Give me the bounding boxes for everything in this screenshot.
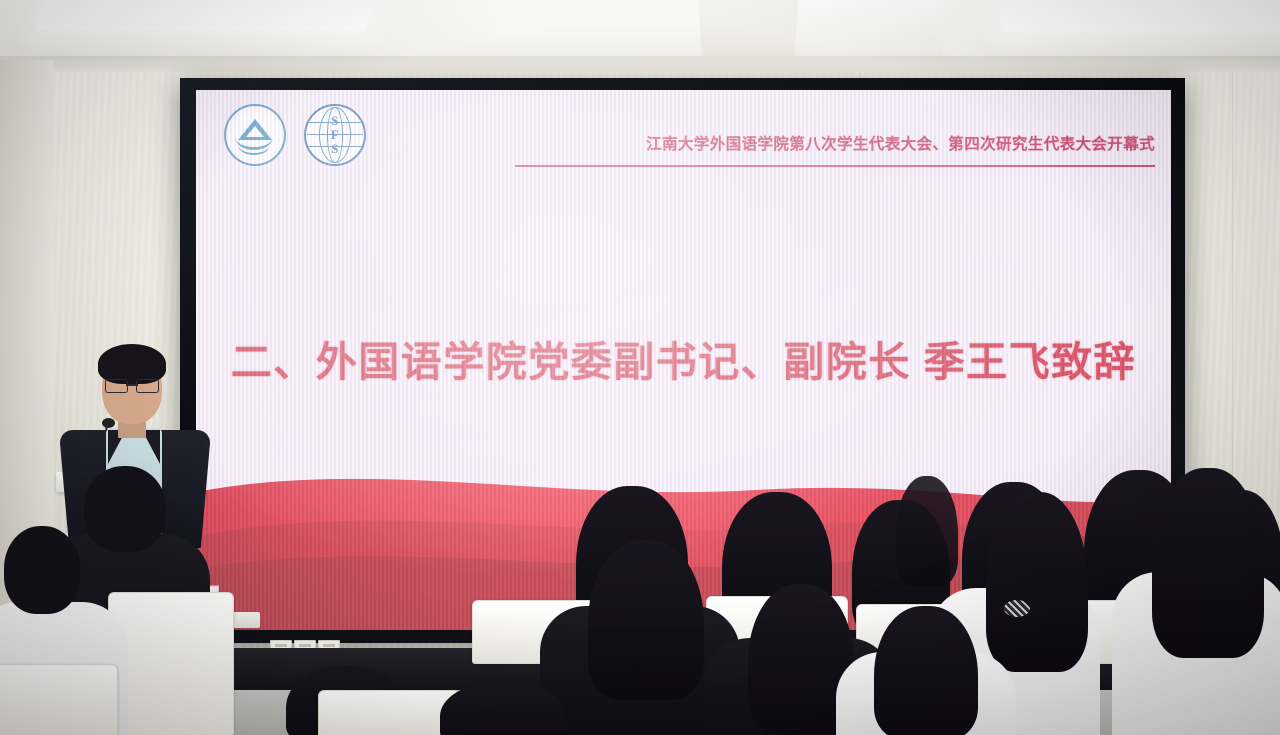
chair[interactable] xyxy=(0,664,118,735)
logo-acronym: S F S xyxy=(306,106,364,164)
school-of-foreign-studies-logo: S F S xyxy=(304,104,366,166)
logo-triangle-inner xyxy=(246,126,264,137)
logo-letter-f: F xyxy=(331,128,339,142)
slide-header: 江南大学外国语学院第八次学生代表大会、第四次研究生代表大会开幕式 xyxy=(515,132,1155,167)
ceiling-light-panel-left xyxy=(35,0,375,30)
hair-tie xyxy=(1004,600,1030,617)
jiangnan-university-logo xyxy=(224,104,286,166)
slide-title: 二、外国语学院党委副书记、副院长 季王飞致辞 xyxy=(196,328,1171,388)
ceiling-cornice xyxy=(0,56,1280,72)
slide-logo-row: S F S xyxy=(224,104,366,166)
chair[interactable] xyxy=(318,690,460,735)
glasses-icon xyxy=(105,379,159,391)
slide-header-text: 江南大学外国语学院第八次学生代表大会、第四次研究生代表大会开幕式 xyxy=(515,132,1155,154)
speaker-hair xyxy=(98,344,166,384)
photo-scene: S F S 江南大学外国语学院第八次学生代表大会、第四次研究生代表大会开幕式 二… xyxy=(0,0,1280,735)
logo-letter-s1: S xyxy=(331,114,339,128)
logo-letter-s2: S xyxy=(331,142,339,156)
ceiling-light-panel-right xyxy=(996,0,1280,32)
slide-header-rule xyxy=(515,165,1155,167)
logo-wave-lower xyxy=(238,145,270,155)
